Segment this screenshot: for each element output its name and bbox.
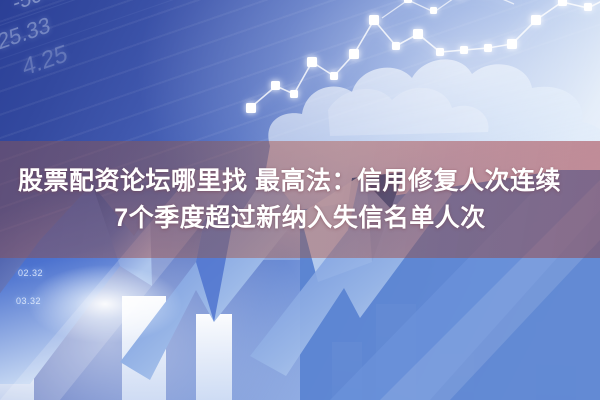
burst-number-2: 03.32 — [16, 296, 41, 306]
headline-text-block: 股票配资论坛哪里找 最高法：信用修复人次连续 7个季度超过新纳入失信名单人次 — [0, 141, 600, 258]
line-chart-graphic — [250, 0, 600, 160]
banner-image: -0.25-11.25+5.02-02.36-50.0226.3221.02 1… — [0, 0, 600, 400]
headline-line-1: 股票配资论坛哪里找 最高法：信用修复人次连续 — [18, 165, 561, 198]
headline-line-2: 7个季度超过新纳入失信名单人次 — [114, 202, 485, 235]
burst-number-1: 02.32 — [18, 268, 43, 278]
